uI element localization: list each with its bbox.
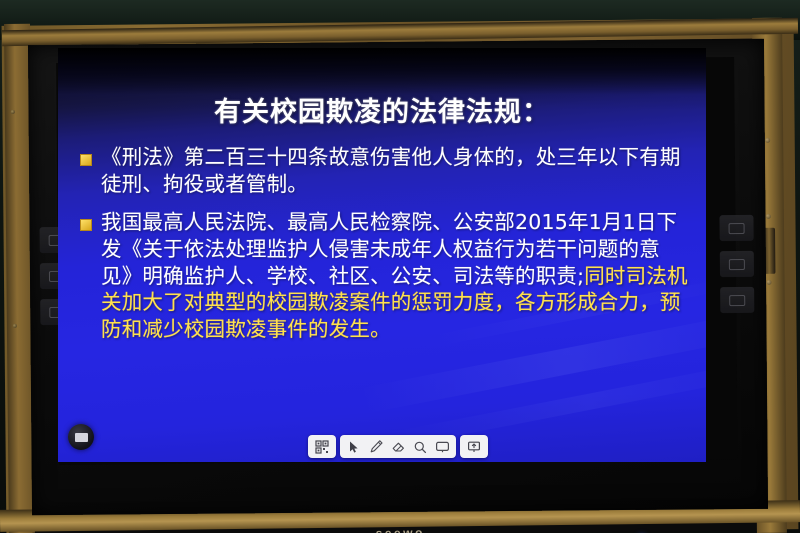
qr-code-icon[interactable] [311,437,333,456]
bezel-button-glyph-icon [729,222,745,233]
present-icon[interactable] [463,437,485,456]
toolbar-group-present[interactable] [460,435,488,458]
hinge-screw [767,280,772,285]
toolbar-group-tools[interactable] [340,435,456,458]
bullet-segment: 《刑法》第二百三十四条故意伤害他人身体的，处三年以下有期徒刑、拘役或者管制。 [101,145,681,196]
bezel-button-glyph-icon [729,294,745,305]
bullet-square-icon [80,154,92,166]
hinge-screw [766,214,771,219]
pen-icon[interactable] [365,437,387,456]
bullet-text: 我国最高人民法院、最高人民检察院、公安部2015年1月1日下发《关于依法处理监护… [101,209,690,342]
photo-scene: seewo 有关校园欺凌的法律法规： 《刑法》第二百三十四条故意伤害他人身体的，… [0,0,800,533]
list-item: 我国最高人民法院、最高人民检察院、公安部2015年1月1日下发《关于依法处理监护… [80,209,690,342]
frame-screw [13,324,17,328]
bezel-button-right-1[interactable] [719,215,753,241]
bezel-button-glyph-icon [729,258,745,269]
keyboard-icon [75,433,88,442]
bullet-square-icon [80,219,92,231]
eraser-icon[interactable] [387,437,409,456]
bullet-text: 《刑法》第二百三十四条故意伤害他人身体的，处三年以下有期徒刑、拘役或者管制。 [101,144,690,197]
annotation-toolbar[interactable] [308,435,488,458]
slide-title: 有关校园欺凌的法律法规： [58,90,706,129]
bezel-button-right-3[interactable] [720,287,754,313]
slide-bullet-list: 《刑法》第二百三十四条故意伤害他人身体的，处三年以下有期徒刑、拘役或者管制。 我… [80,144,690,354]
cursor-icon[interactable] [343,437,365,456]
list-item: 《刑法》第二百三十四条故意伤害他人身体的，处三年以下有期徒刑、拘役或者管制。 [80,144,690,197]
slide-corner-badge[interactable] [68,424,94,450]
toolbar-group-qr[interactable] [308,435,336,458]
bezel-button-right-2[interactable] [720,251,754,277]
magnifier-icon[interactable] [409,437,431,456]
frame-screw [11,110,15,114]
screen-icon[interactable] [431,437,453,456]
presentation-slide[interactable]: 有关校园欺凌的法律法规： 《刑法》第二百三十四条故意伤害他人身体的，处三年以下有… [58,48,706,462]
hinge-screw [765,138,770,143]
